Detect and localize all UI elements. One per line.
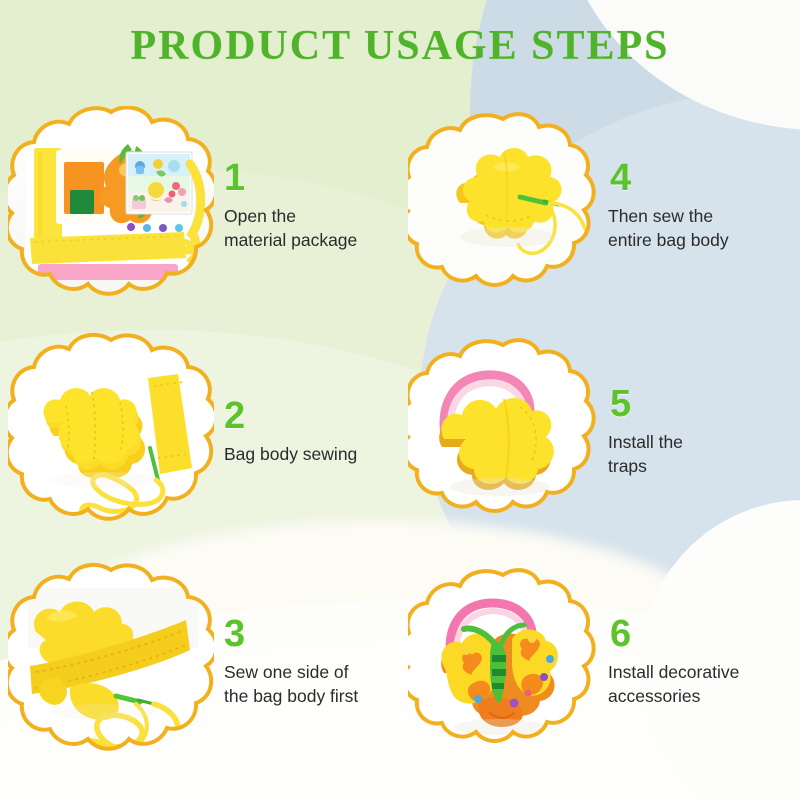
step-2-caption: 2 Bag body sewing <box>214 397 408 467</box>
step-5-photo-frame <box>408 337 598 527</box>
step-item-6: 6 Install decorative accessories <box>408 554 800 770</box>
step-item-4: 4 Then sew the entire bag body <box>408 98 800 314</box>
step-1-text: Open the material package <box>224 205 399 252</box>
page-title: PRODUCT USAGE STEPS <box>0 22 800 70</box>
step-1-caption: 1 Open the material package <box>214 159 408 252</box>
step-6-number: 6 <box>610 615 794 653</box>
step-1-photo-frame <box>8 106 214 306</box>
step-4-text: Then sew the entire bag body <box>608 205 783 252</box>
step-6-text: Install decorative accessories <box>608 661 783 708</box>
step-1-number: 1 <box>224 159 402 197</box>
step-3-photo-frame <box>8 562 214 762</box>
step-item-1: 1 Open the material package <box>8 98 408 314</box>
step-item-5: 5 Install the traps <box>408 324 800 540</box>
step-4-caption: 4 Then sew the entire bag body <box>598 159 800 252</box>
step-4-number: 4 <box>610 159 794 197</box>
sew-one-side-photo <box>8 562 214 762</box>
install-decorations-photo <box>408 567 598 757</box>
step-2-text: Bag body sewing <box>224 443 399 467</box>
step-3-number: 3 <box>224 615 402 653</box>
step-3-text: Sew one side of the bag body first <box>224 661 399 708</box>
step-6-photo-frame <box>408 567 598 757</box>
sew-entire-bag-photo <box>408 111 598 301</box>
install-straps-photo <box>408 337 598 527</box>
step-4-photo-frame <box>408 111 598 301</box>
bag-body-sewing-photo <box>8 332 214 532</box>
step-5-number: 5 <box>610 385 794 423</box>
step-item-3: 3 Sew one side of the bag body first <box>8 554 408 770</box>
craft-material-package-photo <box>8 106 214 306</box>
step-5-text: Install the traps <box>608 431 783 478</box>
product-usage-steps-poster: PRODUCT USAGE STEPS <box>0 0 800 800</box>
step-item-2: 2 Bag body sewing <box>8 324 408 540</box>
step-2-photo-frame <box>8 332 214 532</box>
step-5-caption: 5 Install the traps <box>598 385 800 478</box>
step-6-caption: 6 Install decorative accessories <box>598 615 800 708</box>
step-3-caption: 3 Sew one side of the bag body first <box>214 615 408 708</box>
steps-grid: 1 Open the material package <box>0 92 800 782</box>
step-2-number: 2 <box>224 397 402 435</box>
